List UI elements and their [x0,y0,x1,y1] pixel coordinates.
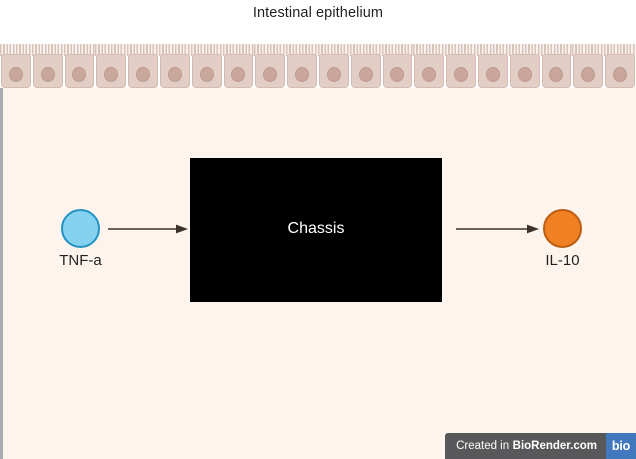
biorender-watermark[interactable]: Created in BioRender.com bio [445,433,636,459]
epithelial-cell [191,44,223,90]
epithelial-cell [127,44,159,90]
epithelial-cell [541,44,573,90]
figure-canvas: Intestinal epithelium TNF-a Chassis IL-1… [0,0,636,459]
watermark-prefix: Created in [456,440,509,452]
cell-nucleus [9,67,23,82]
watermark-text: Created in BioRender.com [445,433,606,459]
epithelial-cell [318,44,350,90]
node-il-10-label: IL-10 [503,252,622,269]
epithelial-cell [350,44,382,90]
cell-nucleus [359,67,373,82]
arrow-input-to-chassis [108,223,188,235]
cell-nucleus [136,67,150,82]
epithelial-cell [64,44,96,90]
title-band: Intestinal epithelium [0,0,636,44]
cell-nucleus [613,67,627,82]
cell-nucleus [200,67,214,82]
cell-nucleus [41,67,55,82]
epithelial-cell [477,44,509,90]
node-il-10[interactable] [543,209,582,248]
epithelial-cell [254,44,286,90]
arrow-chassis-to-output [456,223,539,235]
epithelial-cell [286,44,318,90]
epithelial-cell [95,44,127,90]
cell-nucleus [295,67,309,82]
diagram-stage: TNF-a Chassis IL-10 [0,88,636,459]
epithelial-cell [0,44,32,90]
intestinal-epithelium-layer [0,44,636,90]
biorender-logo-icon[interactable]: bio [606,433,636,459]
cell-nucleus [327,67,341,82]
epithelial-cell [604,44,636,90]
cell-nucleus [168,67,182,82]
epithelial-cell [572,44,604,90]
chassis-box[interactable]: Chassis [190,158,442,302]
cell-nucleus [454,67,468,82]
cell-nucleus [486,67,500,82]
chassis-label: Chassis [190,220,442,238]
epithelial-cell [159,44,191,90]
epithelial-cell [509,44,541,90]
node-tnf-a[interactable] [61,209,100,248]
epithelial-cell [32,44,64,90]
cell-nucleus [518,67,532,82]
page-title: Intestinal epithelium [0,5,636,21]
epithelial-cell [382,44,414,90]
epithelial-cell [223,44,255,90]
epithelial-cell [445,44,477,90]
epithelial-cell [413,44,445,90]
node-tnf-a-label: TNF-a [21,252,140,269]
watermark-brand: BioRender.com [513,440,597,452]
